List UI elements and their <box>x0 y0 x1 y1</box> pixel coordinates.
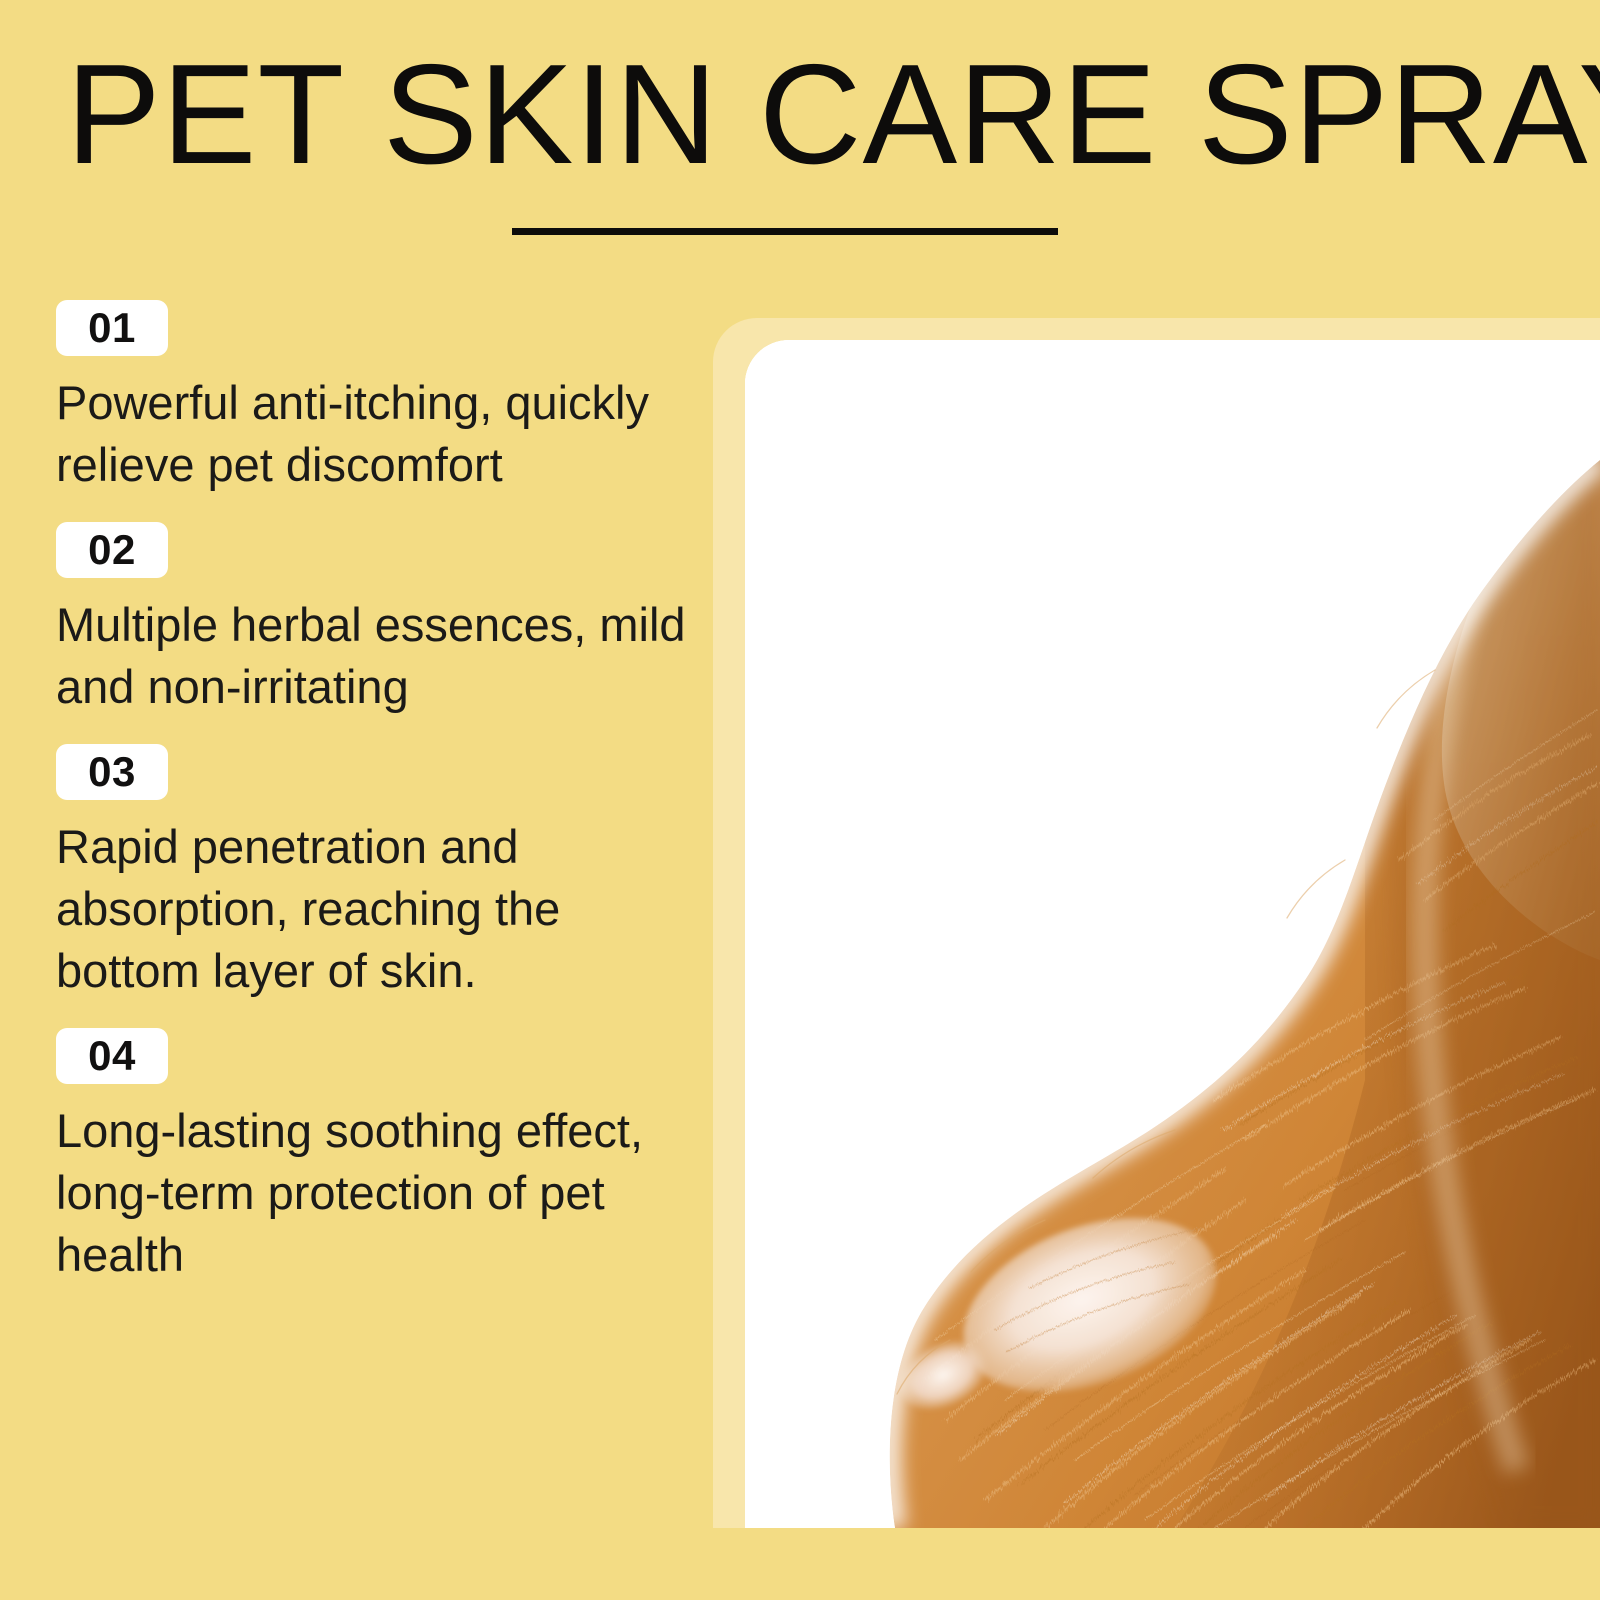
feature-item-03: 03 Rapid penetration and absorption, rea… <box>0 744 700 1002</box>
feature-badge-03: 03 <box>56 744 168 800</box>
title-underline-rule <box>512 228 1058 235</box>
feature-badge-02: 02 <box>56 522 168 578</box>
feature-text-03: Rapid penetration and absorption, reachi… <box>56 816 700 1002</box>
feature-list: 01 Powerful anti-itching, quickly reliev… <box>0 300 700 1286</box>
feature-item-01: 01 Powerful anti-itching, quickly reliev… <box>0 300 700 496</box>
feature-item-02: 02 Multiple herbal essences, mild and no… <box>0 522 700 718</box>
feature-text-04: Long-lasting soothing effect, long-term … <box>56 1100 700 1286</box>
poster-root: PET SKIN CARE SPRAY 01 Powerful anti-itc… <box>0 0 1600 1600</box>
feature-text-01: Powerful anti-itching, quickly relieve p… <box>56 372 700 496</box>
feature-badge-01: 01 <box>56 300 168 356</box>
feature-badge-04: 04 <box>56 1028 168 1084</box>
feature-item-04: 04 Long-lasting soothing effect, long-te… <box>0 1028 700 1286</box>
cat-photo <box>745 340 1600 1528</box>
page-title: PET SKIN CARE SPRAY <box>66 44 1556 186</box>
feature-text-02: Multiple herbal essences, mild and non-i… <box>56 594 700 718</box>
product-image-card <box>745 340 1600 1528</box>
